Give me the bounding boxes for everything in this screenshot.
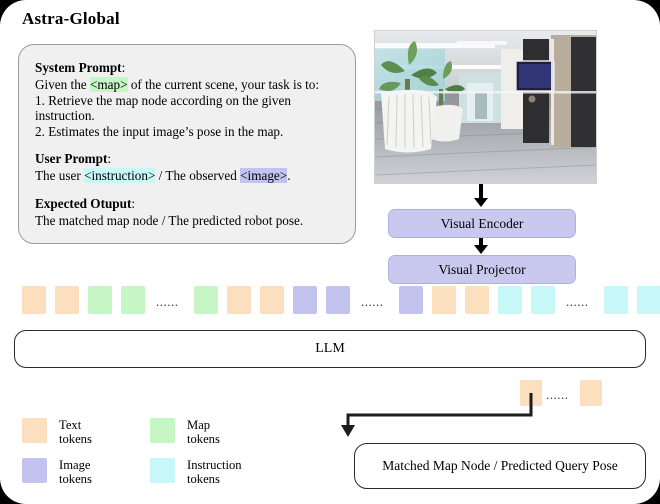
token-strip: ..................: [0, 286, 660, 316]
legend-item-text-tokens: Text tokens: [22, 418, 92, 446]
token-ellipsis: ......: [361, 294, 384, 310]
arrow-encoder-to-projector-head: [474, 245, 488, 254]
legend-label-instruction-tokens: Instruction tokens: [187, 458, 242, 486]
system-prompt-line-4: 2. Estimates the input image’s pose in t…: [35, 124, 341, 140]
page-title: Astra-Global: [22, 9, 120, 29]
map-tag: <map>: [90, 77, 128, 92]
legend-item-image-tokens: Image tokens: [22, 458, 92, 486]
token-instruction: [531, 286, 555, 314]
system-prompt-heading: System Prompt:: [35, 59, 341, 77]
spacer-1: [35, 139, 341, 150]
llm-box[interactable]: LLM: [14, 330, 646, 368]
legend: Text tokensMap tokensImage tokensInstruc…: [22, 418, 272, 492]
user-prompt-label: User Prompt: [35, 151, 107, 166]
legend-label-text-tokens: Text tokens: [59, 418, 92, 446]
corridor-illustration: [375, 31, 596, 183]
expected-output-line-1: The matched map node / The predicted rob…: [35, 213, 341, 229]
legend-swatch-map-tokens: [150, 418, 175, 443]
result-box[interactable]: Matched Map Node / Predicted Query Pose: [354, 443, 646, 489]
token-map: [121, 286, 145, 314]
user-prompt-line-1: The user <instruction> / The observed <i…: [35, 168, 341, 184]
expected-output-heading: Expected Otuput:: [35, 195, 341, 213]
image-tag: <image>: [240, 168, 287, 183]
legend-label-image-tokens: Image tokens: [59, 458, 92, 486]
expected-output-colon: :: [131, 196, 135, 211]
token-text: [55, 286, 79, 314]
token-ellipsis: ......: [156, 294, 179, 310]
visual-projector-box[interactable]: Visual Projector: [388, 255, 576, 284]
prompt-card: System Prompt: Given the <map> of the cu…: [18, 44, 356, 244]
scene-photo: [374, 30, 597, 184]
system-line1-prefix: Given the: [35, 77, 90, 92]
token-instruction: [637, 286, 660, 314]
token-map: [194, 286, 218, 314]
legend-swatch-instruction-tokens: [150, 458, 175, 483]
token-text: [432, 286, 456, 314]
output-connector: [340, 393, 590, 443]
token-ellipsis: ......: [566, 294, 589, 310]
visual-encoder-box[interactable]: Visual Encoder: [388, 209, 576, 238]
planter-large: [381, 90, 437, 153]
token-instruction: [604, 286, 628, 314]
token-image: [293, 286, 317, 314]
figure-frame: Astra-Global System Prompt: Given the <m…: [0, 0, 660, 504]
token-text: [227, 286, 251, 314]
user-prompt-heading: User Prompt:: [35, 150, 341, 168]
user-line1-prefix: The user: [35, 168, 84, 183]
token-text: [260, 286, 284, 314]
legend-item-map-tokens: Map tokens: [150, 418, 220, 446]
system-prompt-line-2: 1. Retrieve the map node according on th…: [35, 93, 341, 109]
token-map: [88, 286, 112, 314]
system-prompt-line-3: instruction.: [35, 108, 341, 124]
token-text: [22, 286, 46, 314]
legend-swatch-text-tokens: [22, 418, 47, 443]
system-prompt-label: System Prompt: [35, 60, 122, 75]
expected-output-label: Expected Otuput: [35, 196, 131, 211]
system-line1-suffix: of the current scene, your task is to:: [128, 77, 320, 92]
instruction-tag: <instruction>: [84, 168, 155, 183]
token-instruction: [498, 286, 522, 314]
legend-item-instruction-tokens: Instruction tokens: [150, 458, 242, 486]
system-prompt-line-1: Given the <map> of the current scene, yo…: [35, 77, 341, 93]
token-image: [326, 286, 350, 314]
token-image: [399, 286, 423, 314]
legend-swatch-image-tokens: [22, 458, 47, 483]
arrow-photo-to-encoder-head: [474, 198, 488, 207]
legend-label-map-tokens: Map tokens: [187, 418, 220, 446]
user-prompt-colon: :: [107, 151, 111, 166]
spacer-2: [35, 184, 341, 195]
token-text: [465, 286, 489, 314]
user-line1-mid: / The observed: [155, 168, 240, 183]
system-prompt-colon: :: [122, 60, 126, 75]
user-line1-period: .: [287, 168, 290, 183]
